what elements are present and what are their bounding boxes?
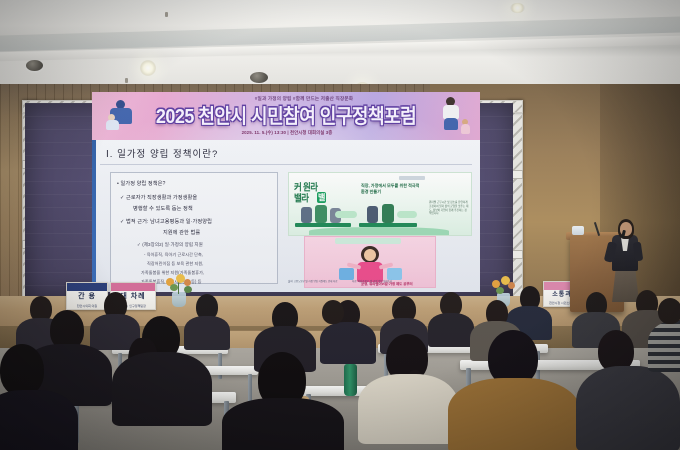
projection-screen: #일과 가정의 양립 #함께 만드는 저출산 직장문화 2025 천안시 시민참… (92, 92, 480, 292)
banner-subtitle: 2025. 11. 5.(수) 13:30 | 천안시청 대회의실 3층 (172, 130, 402, 136)
audience-shoulders (576, 366, 680, 450)
podium-item (572, 226, 584, 235)
presenter-skirt (612, 268, 639, 302)
ceiling (0, 0, 680, 92)
audience-shoulders (184, 316, 230, 350)
audience-shoulders (428, 313, 474, 347)
infographic-figure (367, 206, 378, 223)
slide-text-panel: • 일가정 양립 정책은? ✓ 근로자가 직장생활과 가정생활을 병행할 수 있… (110, 172, 278, 284)
vase (172, 292, 186, 307)
audience-head (0, 344, 44, 396)
slide-title: Ⅰ. 일가정 양립 정책이란? (106, 146, 218, 160)
infographic-bag-right (387, 268, 402, 280)
audience-head (658, 298, 680, 324)
sprinkler-head (125, 78, 128, 83)
audience-head (322, 300, 344, 324)
slide-heading: • 일가정 양립 정책은? (117, 180, 166, 187)
audience-shoulders (222, 398, 344, 450)
slide-accent-bar (92, 140, 96, 292)
leaf (496, 287, 504, 294)
infographic-figure (315, 205, 327, 223)
infographic-figure (301, 207, 312, 223)
flower (184, 279, 191, 286)
audience-shoulders (112, 352, 212, 426)
slide-subbullet: 직장어린이집 등 보육 관한 지원, (147, 261, 203, 267)
conference-hall-photo: #일과 가정의 양립 #함께 만드는 저출산 직장문화 2025 천안시 시민참… (0, 0, 680, 450)
slide-note-middle: 자료: 여성가족부, 일·가정 양립 실태조사 (352, 280, 394, 283)
slide-bullet: 병행할 수 있도록 돕는 정책 (133, 205, 193, 212)
infographic-pink-tag (335, 238, 401, 244)
audience-shoulders (358, 374, 458, 444)
infographic-desk (295, 223, 351, 227)
name-placard: 간 용 천안시의회 의원 (66, 282, 108, 310)
placard-name: 간 용 (67, 291, 107, 301)
slide-note-left: 출처: 고용노동부 일·가정 양립 지원제도 안내 자료 (288, 280, 346, 283)
audience-shoulders (320, 322, 376, 364)
infographic-figure (382, 204, 394, 223)
banner-title: 2025 천안시 시민참여 인구정책포럼 (140, 100, 432, 129)
infographic-arc (309, 227, 449, 235)
infographic-speech-bubble (397, 211, 417, 218)
placard-subtitle: 천안시의회 의원 (67, 304, 107, 308)
infographic-green-copy: 직장, 가정에서 모두를 위한 적극적 환경 만들기 (361, 183, 423, 195)
infographic-logo (399, 176, 425, 180)
audience-shoulders (0, 390, 78, 450)
presentation-slide: Ⅰ. 일가정 양립 정책이란? • 일가정 양립 정책은? ✓ 근로자가 직장생… (92, 140, 480, 292)
flower (508, 282, 515, 289)
slide-divider (100, 164, 472, 165)
forum-banner: #일과 가정의 양립 #함께 만드는 저출산 직장문화 2025 천안시 시민참… (92, 92, 480, 140)
ceiling-vent (26, 60, 43, 71)
slide-subbullet: - 육아휴직, 육아기 근로시간 단축, (144, 252, 203, 258)
sprinkler-head (165, 12, 168, 17)
ceiling-vent (250, 72, 268, 83)
slide-bullet: ✓ 법적 근거: 남녀고용평등과 일·가정양립 (120, 218, 212, 225)
slide-bullet: ✓ 근로자가 직장생활과 가정생활을 (120, 194, 197, 201)
tumbler (344, 364, 357, 396)
slide-bullet: 지원에 관한 법률 (163, 229, 200, 236)
slide-subheading: ✓ (제3장의2) 일·가정의 양립 지원 (137, 242, 203, 248)
infographic-bag-left (339, 268, 354, 280)
ceiling-downlight (510, 3, 525, 13)
infographic-person-face (364, 249, 376, 261)
infographic-speech-bubble (335, 211, 357, 218)
leaf (184, 286, 192, 293)
stem (178, 282, 179, 294)
infographic-green-note: 워라밸 근무시간 및 장소를 유연하게 조정하여 일과 삶의 균형을 맞추는 제… (429, 201, 469, 216)
infographic-green-subtitle: 밸라 (294, 191, 308, 205)
audience-shoulders (448, 378, 580, 450)
infographic-work-life-balance: 커 원라 밸라 밸 직장, 가정에서 모두를 위한 적극적 환경 만들기 워라밸… (288, 172, 472, 236)
leaf (170, 284, 178, 291)
infographic-green-highlight: 밸 (317, 192, 326, 203)
ceiling-downlight (140, 60, 156, 76)
slide-subbullet: 가족돌봄을 위한 지원(가족돌봄휴가, (141, 270, 204, 276)
